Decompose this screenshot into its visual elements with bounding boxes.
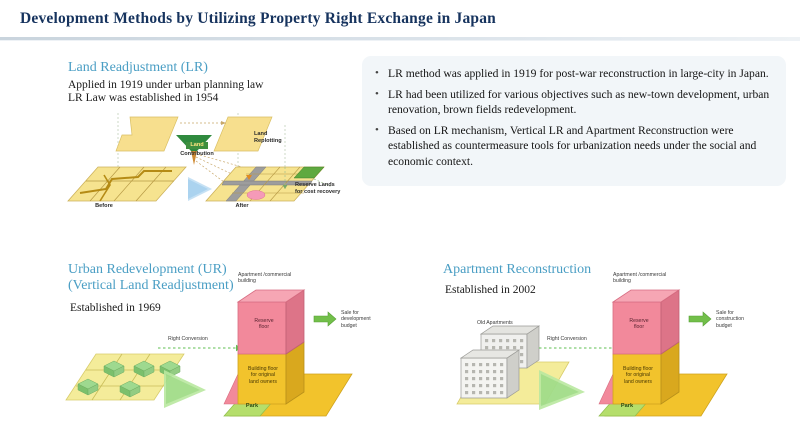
reserve-lands-label: Reserve Lands for cost recovery <box>295 182 365 195</box>
ur-owner-floor-line-3: land owners <box>240 379 286 385</box>
ar-sale-label: Sale for construction budget <box>716 310 768 329</box>
lr-section-heading: Land Readjustment (LR) <box>68 60 208 75</box>
ar-old-apartments-label: Old Apartments <box>477 320 539 326</box>
lr-section-subline-1: Applied in 1919 under urban planning law <box>68 79 263 92</box>
land-contribution-text: Contribution <box>166 151 228 158</box>
ar-reserve-floor-label: Reserve floor <box>621 318 657 331</box>
reserve-lands-line-1: Reserve Lands <box>295 182 365 189</box>
ur-reserve-floor-label: Reserve floor <box>246 318 282 331</box>
list-item: LR had been utilized for various objecti… <box>388 87 772 118</box>
lr-section-subline-2: LR Law was established in 1954 <box>68 92 218 105</box>
ur-reserve-floor-line-2: floor <box>246 324 282 330</box>
ur-diagram: Apartment /commercial building Reserve f… <box>60 258 410 426</box>
ur-building-label-line-2: building <box>238 278 318 284</box>
ar-diagram: Old Apartments Apartment /commercial bui… <box>435 258 785 426</box>
before-label: Before <box>82 203 126 210</box>
ar-park-label: Park <box>615 403 639 410</box>
urban-redevelopment-section: Urban Redevelopment (UR) (Vertical Land … <box>60 258 410 426</box>
ar-owner-floor-line-3: land owners <box>615 379 661 385</box>
reserve-lands-line-2: for cost recovery <box>295 189 365 196</box>
land-readjustment-diagram: Land Contribution Land Replotting Reserv… <box>60 105 365 223</box>
ar-sale-line-3: budget <box>716 323 768 329</box>
ur-building-label: Apartment /commercial building <box>238 272 318 285</box>
ar-reserve-floor-line-2: floor <box>621 324 657 330</box>
land-replotting-line-1: Land <box>254 131 308 138</box>
lr-bullet-panel: LR method was applied in 1919 for post-w… <box>362 56 786 186</box>
list-item: Based on LR mechanism, Vertical LR and A… <box>388 123 772 170</box>
ar-right-conversion-label: Right Conversion <box>547 336 609 342</box>
land-replotting-line-2: Replotting <box>254 138 308 145</box>
ur-right-conversion-label: Right Conversion <box>168 336 230 342</box>
lr-bullet-list: LR method was applied in 1919 for post-w… <box>362 56 786 170</box>
list-item: LR method was applied in 1919 for post-w… <box>388 66 772 82</box>
header-divider-secondary <box>0 40 800 41</box>
land-contribution-label: Land Contribution <box>166 133 228 158</box>
apartment-reconstruction-section: Apartment Reconstruction Established in … <box>435 258 785 426</box>
land-contribution-chip: Land <box>186 142 207 149</box>
page-title: Development Methods by Utilizing Propert… <box>20 10 496 28</box>
ur-owner-floor-label: Building floor for original land owners <box>240 366 286 385</box>
after-label: After <box>220 203 264 210</box>
slide-root: Development Methods by Utilizing Propert… <box>0 0 800 430</box>
ar-owner-floor-label: Building floor for original land owners <box>615 366 661 385</box>
ur-sale-line-3: budget <box>341 323 393 329</box>
ur-park-label: Park <box>240 403 264 410</box>
ur-sale-label: Sale for development budget <box>341 310 393 329</box>
land-replotting-label: Land Replotting <box>254 131 308 144</box>
ar-building-label: Apartment /commercial building <box>613 272 693 285</box>
ar-building-label-line-2: building <box>613 278 693 284</box>
